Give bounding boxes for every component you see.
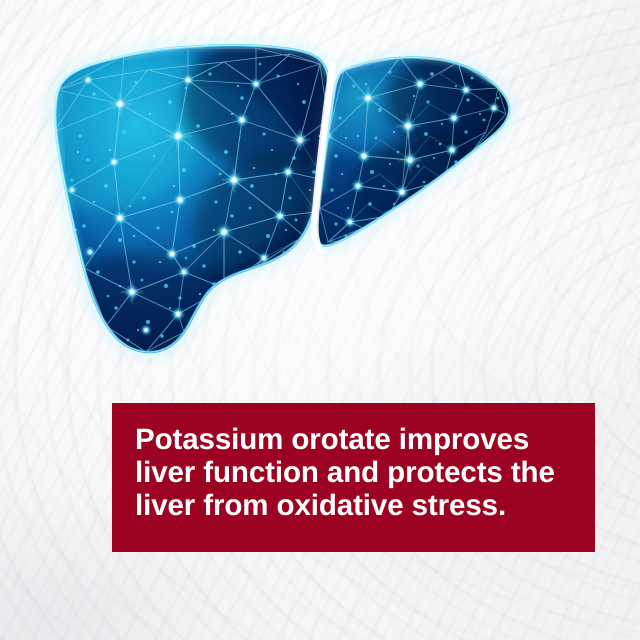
infographic-canvas: Potassium orotate improves liver functio…: [0, 0, 640, 640]
liver-illustration: [28, 40, 528, 370]
caption-text: Potassium orotate improves liver functio…: [135, 423, 573, 522]
caption-banner: Potassium orotate improves liver functio…: [112, 403, 595, 552]
